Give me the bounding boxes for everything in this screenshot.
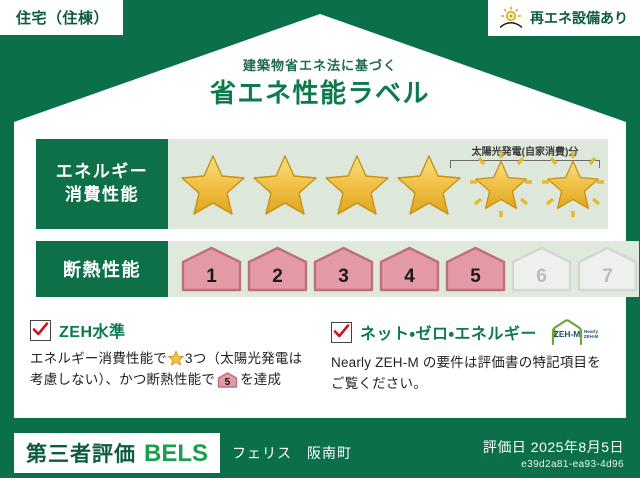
star-rating-group: [168, 149, 608, 219]
solar-star-icon: [538, 149, 608, 219]
insulation-level-number: 1: [206, 267, 217, 292]
insulation-level-inline-number: 5: [217, 378, 238, 388]
label-title-block: 建築物省エネ法に基づく 省エネ性能ラベル: [0, 58, 640, 107]
property-name: フェリス 阪南町: [232, 443, 352, 463]
checkbox-checked-icon[interactable]: [30, 320, 51, 341]
insulation-level-number: 7: [602, 267, 613, 292]
star-icon: [250, 149, 320, 219]
insulation-level-badge-inactive: 7: [576, 246, 639, 292]
insulation-level-number: 3: [338, 267, 349, 292]
note-nze-body: Nearly ZEH-M の要件は評価書の特記項目をご覧ください。: [331, 353, 610, 395]
note-nze-header: ネット・ゼロ・エネルギー ZEH-M Nearly ZEH-M: [331, 318, 610, 346]
insulation-level-inline-icon: 5: [217, 372, 238, 388]
star-icon: [168, 350, 184, 366]
renewable-equipment-badge: 再エネ設備あり: [488, 0, 640, 36]
checkbox-checked-icon[interactable]: [331, 322, 352, 343]
solar-star-icon: [466, 149, 536, 219]
insulation-level-badge-inactive: 6: [510, 246, 573, 292]
title-main: 省エネ性能ラベル: [0, 79, 640, 108]
insulation-level-badge: 2: [246, 246, 309, 292]
insulation-performance-row: 断熱性能 1 2 3 4: [36, 241, 604, 297]
note-nze-title: ネット・ゼロ・エネルギー: [360, 320, 537, 344]
insulation-level-group: 1 2 3 4 5: [168, 246, 639, 292]
zeh-m-house-logo: ZEH-M Nearly ZEH-M: [549, 318, 601, 346]
energy-performance-label-box: エネルギー 消費性能: [36, 139, 168, 229]
note-zeh-body: エネルギー消費性能で3つ（太陽光発電は考慮しない）、かつ断熱性能で5を達成: [30, 349, 309, 391]
svg-text:ZEH-M: ZEH-M: [554, 329, 581, 339]
insulation-levels-area: 1 2 3 4 5: [168, 241, 639, 297]
bels-label-ja: 第三者評価: [26, 438, 136, 468]
note-net-zero-energy: ネット・ゼロ・エネルギー ZEH-M Nearly ZEH-M Nearly Z…: [331, 318, 610, 395]
note-zeh-header: ZEH水準: [30, 318, 309, 342]
insulation-level-badge: 3: [312, 246, 375, 292]
star-icon: [322, 149, 392, 219]
insulation-level-number: 2: [272, 267, 283, 292]
insulation-level-number: 5: [470, 267, 481, 292]
energy-performance-row: エネルギー 消費性能 太陽光発電(自家消費)分: [36, 139, 604, 229]
star-icon: [394, 149, 464, 219]
house-type-tag: 住宅（住棟）: [0, 0, 123, 35]
insulation-performance-label-box: 断熱性能: [36, 241, 168, 297]
note-zeh-text-3: を達成: [240, 372, 281, 387]
house-type-tag-label: 住宅（住棟）: [16, 10, 109, 27]
insulation-level-badge: 5: [444, 246, 507, 292]
sun-solar-icon: [498, 6, 524, 30]
evaluation-date: 評価日 2025年8月5日: [483, 437, 624, 457]
evaluation-id: e39d2a81-ea93-4d96: [483, 459, 624, 470]
bels-certification-box: 第三者評価 BELS: [14, 433, 220, 473]
energy-stars-area: 太陽光発電(自家消費)分: [168, 139, 608, 229]
insulation-level-badge: 4: [378, 246, 441, 292]
bels-label-en: BELS: [144, 440, 208, 468]
evaluation-info: 評価日 2025年8月5日 e39d2a81-ea93-4d96: [483, 437, 624, 470]
insulation-level-number: 6: [536, 267, 547, 292]
insulation-label: 断熱性能: [63, 256, 141, 282]
energy-label-line1: エネルギー: [56, 161, 149, 184]
insulation-level-number: 4: [404, 267, 415, 292]
svg-text:ZEH-M: ZEH-M: [584, 334, 599, 339]
note-zeh-title: ZEH水準: [59, 318, 126, 342]
note-zeh-text-1: エネルギー消費性能で: [30, 351, 167, 366]
notes-section: ZEH水準 エネルギー消費性能で3つ（太陽光発電は考慮しない）、かつ断熱性能で5…: [30, 318, 610, 395]
energy-performance-label: 住宅（住棟） 再エネ設備あり 建築物省エネ法に基づく 省エネ性能ラベル: [0, 0, 640, 478]
note-zeh-standard: ZEH水準 エネルギー消費性能で3つ（太陽光発電は考慮しない）、かつ断熱性能で5…: [30, 318, 309, 395]
star-icon: [178, 149, 248, 219]
insulation-level-badge: 1: [180, 246, 243, 292]
energy-label-line2: 消費性能: [65, 184, 139, 207]
footer-bar: 第三者評価 BELS フェリス 阪南町 評価日 2025年8月5日 e39d2a…: [0, 428, 640, 478]
title-subtitle: 建築物省エネ法に基づく: [0, 58, 640, 74]
renewable-badge-label: 再エネ設備あり: [530, 8, 628, 28]
